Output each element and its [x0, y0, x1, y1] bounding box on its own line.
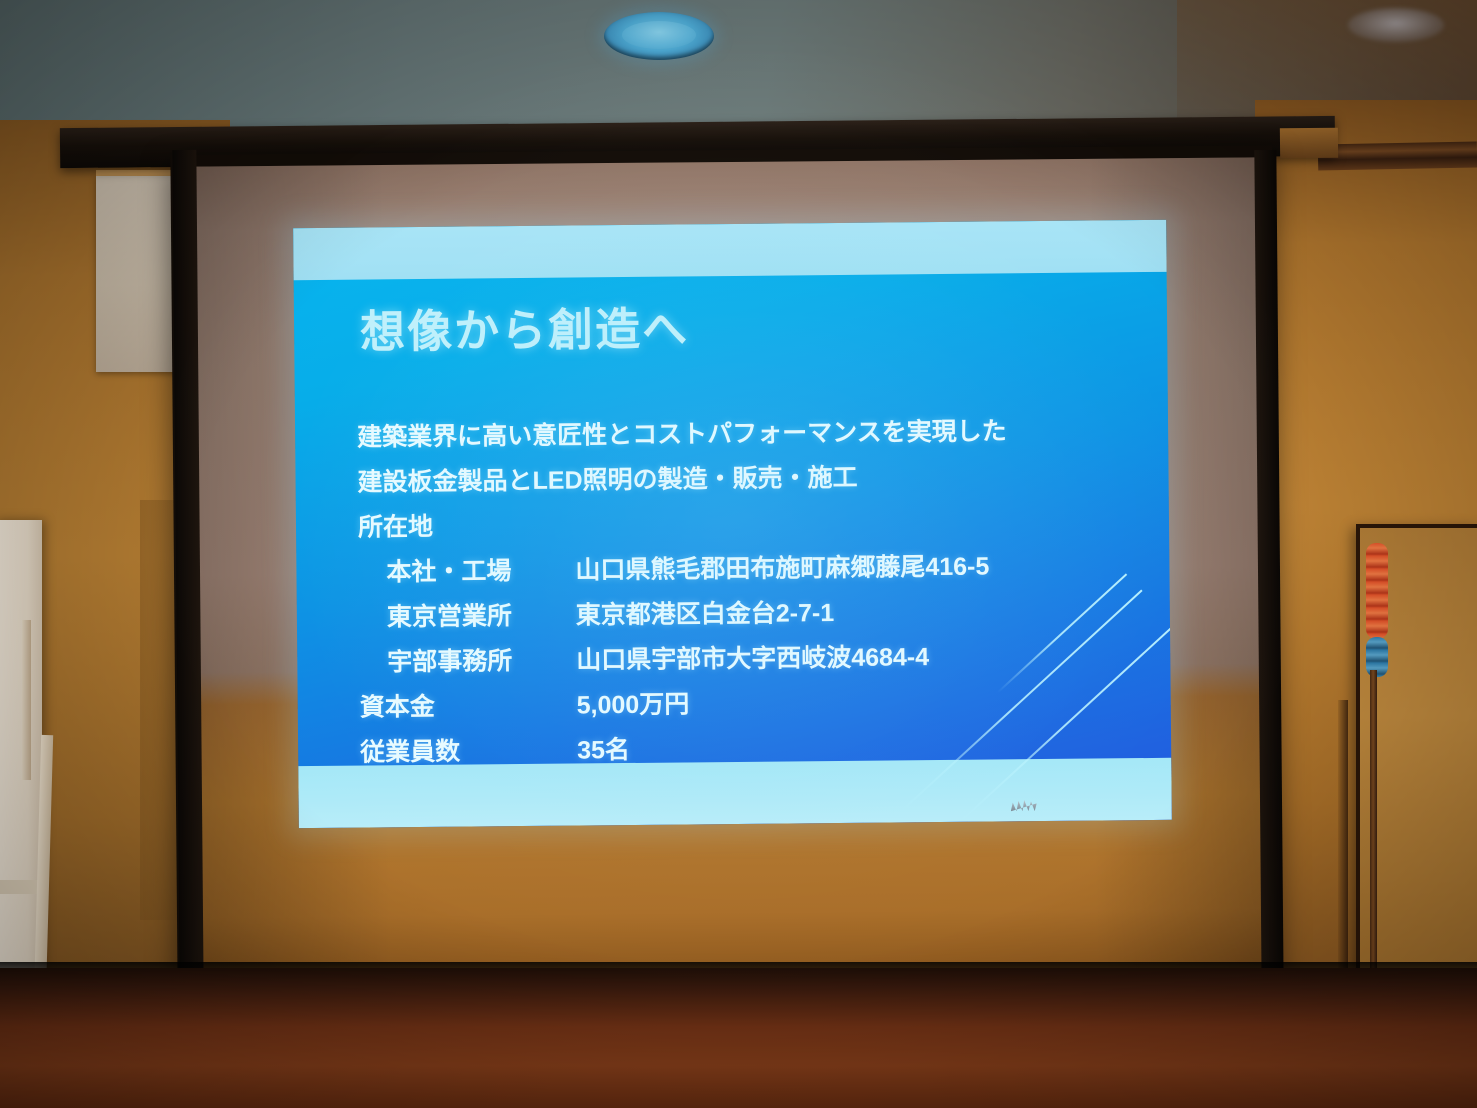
slide-text-line: 従業員数 35名	[360, 723, 1130, 775]
slide-text-line: 資本金 5,000万円	[360, 678, 1130, 730]
slide-text-line: 本社・工場 山口県熊毛郡田布施町麻郷藤尾416-5	[358, 543, 1128, 595]
slide-title: 想像から創造へ	[360, 292, 690, 360]
ceiling-downlight-icon	[604, 12, 714, 60]
slide-background: 想像から創造へ 建築業界に高い意匠性とコストパフォーマンスを実現した 建設板金製…	[293, 220, 1172, 828]
slide-line-text: 山口県熊毛郡田布施町麻郷藤尾416-5	[575, 553, 989, 585]
screen-valance-highlight	[1280, 128, 1338, 159]
wall-molding	[1318, 141, 1477, 170]
slide-line-label: 本社・工場	[386, 549, 568, 596]
projected-slide: 想像から創造へ 建築業界に高い意匠性とコストパフォーマンスを実現した 建設板金製…	[293, 220, 1172, 828]
slide-line-label: 宇部事務所	[387, 639, 569, 686]
slide-line-text: 5,000万円	[577, 690, 690, 719]
slide-line-label: 資本金	[360, 684, 570, 731]
slide-line-label: 東京営業所	[387, 594, 569, 641]
whiteboard-easel-support	[22, 620, 31, 780]
slide-line-text: 35名	[577, 736, 630, 765]
ceiling-downlight-2-icon	[1348, 8, 1444, 42]
slide-text-line: 東京営業所 東京都港区白金台2-7-1	[359, 588, 1129, 640]
slide-top-band	[293, 220, 1166, 280]
slide-text-line: 所在地	[358, 498, 1128, 550]
slide-line-text: 建設板金製品とLED照明の製造・販売・施工	[357, 464, 857, 497]
slide-text-line: 建築業界に高い意匠性とコストパフォーマンスを実現した	[357, 408, 1127, 460]
room-scene: 想像から創造へ 建築業界に高い意匠性とコストパフォーマンスを実現した 建設板金製…	[0, 0, 1477, 1108]
slide-line-text: 東京都港区白金台2-7-1	[576, 599, 835, 629]
slide-line-text: 建築業界に高い意匠性とコストパフォーマンスを実現した	[357, 417, 1007, 451]
panel-red-beads	[1366, 543, 1388, 639]
slide-line-label: 従業員数	[360, 729, 570, 776]
slide-text-line: 宇部事務所 山口県宇部市大字西岐波4684-4	[359, 633, 1129, 685]
slide-line-text: 山口県宇部市大字西岐波4684-4	[576, 643, 929, 674]
slide-line-text: 所在地	[358, 513, 433, 542]
slide-body-text: 建築業界に高い意匠性とコストパフォーマンスを実現した 建設板金製品とLED照明の…	[357, 408, 1130, 775]
wainscot-panel	[0, 968, 1477, 1108]
slide-text-line: 建設板金製品とLED照明の製造・販売・施工	[357, 453, 1127, 505]
